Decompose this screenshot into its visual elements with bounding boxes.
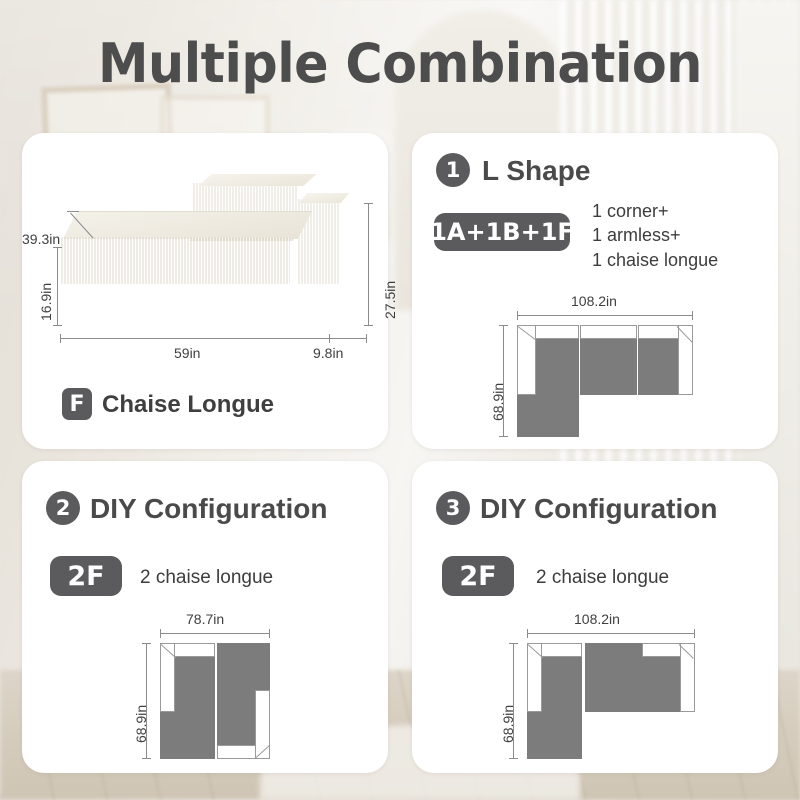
spec-line-1: 1 corner+ bbox=[592, 199, 718, 223]
panel1-width-tick-left bbox=[517, 311, 518, 320]
module-badge-f: F bbox=[62, 388, 92, 420]
module-armless bbox=[580, 325, 637, 395]
seat-height-tick-top bbox=[53, 247, 62, 248]
panel1-width-tick-right bbox=[692, 311, 693, 320]
back-height-line bbox=[368, 203, 369, 325]
panel2-width-line bbox=[160, 633, 270, 634]
panel2-depth-tick-bottom bbox=[142, 758, 151, 759]
panel-heading-3: DIY Configuration bbox=[480, 493, 717, 525]
p2-right-seat-upper bbox=[217, 643, 270, 691]
dim-depth: 39.3in bbox=[22, 231, 60, 247]
panel2-width-tick-right bbox=[269, 629, 270, 638]
armless-back-top bbox=[580, 325, 637, 339]
panel1-width-line bbox=[517, 315, 693, 316]
panel3-depth-label: 68.9in bbox=[500, 705, 516, 743]
module-corner bbox=[517, 325, 579, 437]
page-title: Multiple Combination bbox=[24, 32, 776, 95]
sofa-backrest-top bbox=[198, 174, 316, 186]
panel-number-1: 1 bbox=[436, 153, 470, 187]
sofa-arm-top bbox=[299, 193, 349, 203]
module-chaise-right-p2 bbox=[217, 643, 270, 759]
panel3-width-tick-right bbox=[694, 629, 695, 638]
panel-heading-2: DIY Configuration bbox=[90, 493, 327, 525]
length-line bbox=[60, 338, 330, 339]
p2-left-back-side bbox=[160, 643, 175, 712]
arm-width-tick-right bbox=[366, 334, 367, 343]
p3-left-seat-lower bbox=[527, 711, 582, 759]
dim-back-height: 27.5in bbox=[382, 281, 398, 319]
back-height-tick-bottom bbox=[364, 325, 373, 326]
spec-line-2: 1 armless+ bbox=[592, 223, 718, 247]
dim-arm-width: 9.8in bbox=[313, 345, 343, 361]
length-tick-left bbox=[60, 334, 61, 343]
sofa-seat-front bbox=[60, 237, 290, 284]
module-label-chaise-longue: Chaise Longue bbox=[102, 391, 274, 419]
panel-spec-list-1: 1 corner+ 1 armless+ 1 chaise longue bbox=[592, 199, 718, 272]
module-chaise-left-p2 bbox=[160, 643, 215, 759]
module-chaise-right-p3 bbox=[585, 643, 695, 712]
panel-heading-1: L Shape bbox=[482, 155, 590, 187]
panel-badge-2: 2F bbox=[50, 556, 122, 596]
panel-number-2: 2 bbox=[46, 491, 80, 525]
infographic-page: Multiple Combination 39.3in 16.9in 27.5i… bbox=[0, 0, 800, 800]
panel-spec-2: 2 chaise longue bbox=[140, 567, 273, 589]
panel2-width-tick-left bbox=[160, 629, 161, 638]
dim-length: 59in bbox=[174, 345, 200, 361]
panel1-width-label: 108.2in bbox=[571, 293, 617, 309]
panel3-depth-tick-top bbox=[509, 643, 518, 644]
back-height-tick-top bbox=[364, 203, 373, 204]
p2-right-back-side bbox=[255, 690, 270, 759]
panel3-depth-tick-bottom bbox=[509, 758, 518, 759]
corner-seat-lower bbox=[517, 394, 579, 437]
panel2-depth-label: 68.9in bbox=[133, 705, 149, 743]
panel-diy-1: 2 DIY Configuration 2F 2 chaise longue 7… bbox=[22, 461, 388, 773]
panel2-width-label: 78.7in bbox=[186, 611, 224, 627]
panel-badge-3: 2F bbox=[442, 556, 514, 596]
seat-height-tick-bottom bbox=[53, 325, 62, 326]
dim-seat-height: 16.9in bbox=[38, 283, 54, 321]
p2-left-seat-upper bbox=[174, 656, 215, 711]
panel3-width-tick-left bbox=[527, 629, 528, 638]
panel-spec-3: 2 chaise longue bbox=[536, 567, 669, 589]
panel1-depth-tick-top bbox=[499, 325, 508, 326]
sofa-photo bbox=[60, 181, 350, 296]
p2-left-seat-lower bbox=[160, 711, 215, 759]
panel3-width-line bbox=[527, 633, 695, 634]
panel1-depth-label: 68.9in bbox=[490, 383, 506, 421]
p2-right-seat-lower bbox=[217, 691, 256, 746]
corner-seat-upper bbox=[535, 338, 579, 394]
module-chaise-right bbox=[638, 325, 693, 395]
depth-tick bbox=[67, 211, 79, 212]
panel3-width-label: 108.2in bbox=[574, 611, 620, 627]
panel-number-3: 3 bbox=[436, 491, 470, 525]
arm-width-line bbox=[329, 338, 367, 339]
p3-left-back-side bbox=[527, 643, 542, 712]
p3-left-seat-upper bbox=[541, 656, 582, 711]
panel-l-shape: 1 L Shape 1A+1B+1F 1 corner+ 1 armless+ … bbox=[412, 133, 778, 449]
corner-back-left bbox=[517, 325, 536, 395]
product-card: 39.3in 16.9in 27.5in 59in 9.8in F Chaise… bbox=[22, 133, 388, 449]
panel-badge-1: 1A+1B+1F bbox=[434, 213, 570, 251]
spec-line-3: 1 chaise longue bbox=[592, 248, 718, 272]
panel-diy-2: 3 DIY Configuration 2F 2 chaise longue 1… bbox=[412, 461, 778, 773]
sofa-seat-top bbox=[63, 211, 312, 239]
module-chaise-left-p3 bbox=[527, 643, 582, 759]
panel2-depth-tick-top bbox=[142, 643, 151, 644]
armless-seat bbox=[580, 338, 637, 395]
seat-height-line bbox=[57, 247, 58, 325]
panel1-depth-tick-bottom bbox=[499, 436, 508, 437]
chaise-seat bbox=[638, 338, 679, 395]
